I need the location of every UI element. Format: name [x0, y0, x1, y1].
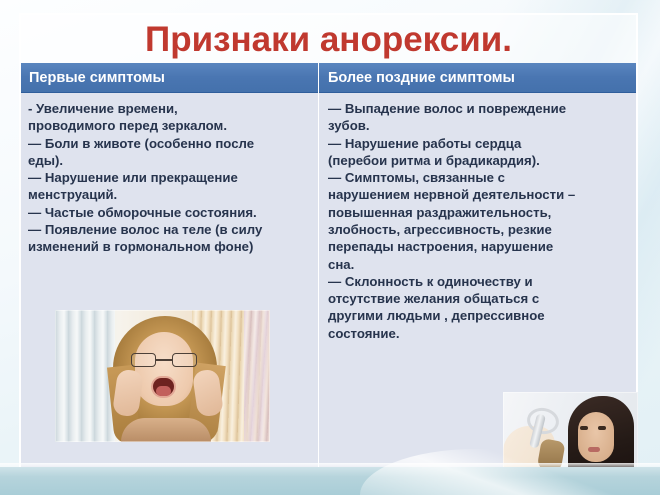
- list-item: нарушением нервной деятельности –: [328, 186, 624, 203]
- lens-left: [131, 353, 156, 367]
- column-header-late-symptoms: Более поздние симптомы: [319, 63, 636, 93]
- list-item: другими людьми , депрессивное: [328, 307, 624, 324]
- list-item: — Склонность к одиночеству и: [328, 273, 624, 290]
- list-item: повышенная раздражительность,: [328, 204, 624, 221]
- list-item: отсутствие желания общаться с: [328, 290, 624, 307]
- list-item: - Увеличение времени,: [28, 100, 310, 117]
- eye-right: [598, 426, 606, 430]
- list-item: — Боли в животе (особенно после: [28, 135, 310, 152]
- photo-screaming-woman-with-glasses: [55, 310, 270, 442]
- eye-left: [580, 426, 588, 430]
- list-item: состояние.: [328, 325, 624, 342]
- list-item: (перебои ритма и брадикардия).: [328, 152, 624, 169]
- list-item: менструаций.: [28, 186, 310, 203]
- lens-right: [172, 353, 197, 367]
- list-item: перепады настроения, нарушение: [328, 238, 624, 255]
- tongue: [156, 386, 171, 396]
- shoulders: [121, 418, 211, 442]
- list-item: зубов.: [328, 117, 624, 134]
- list-item: — Нарушение работы сердца: [328, 135, 624, 152]
- window-blinds-backdrop: [55, 310, 115, 442]
- column-header-early-symptoms: Первые симптомы: [21, 63, 318, 93]
- slide-canvas: Признаки анорексии. Первые симптомы - Ув…: [0, 0, 660, 495]
- list-item: — Выпадение волос и повреждение: [328, 100, 624, 117]
- list-item: — Симптомы, связанные с: [328, 169, 624, 186]
- list-item: сна.: [328, 256, 624, 273]
- list-item: проводимого перед зеркалом.: [28, 117, 310, 134]
- glasses-icon: [131, 353, 197, 367]
- list-item: — Появление волос на теле (в силу: [28, 221, 310, 238]
- list-item: еды).: [28, 152, 310, 169]
- glasses-bridge: [156, 359, 172, 361]
- violet-stripes-backdrop: [244, 310, 270, 442]
- list-item: изменений в гормональном фоне): [28, 238, 310, 255]
- list-item: — Нарушение или прекращение: [28, 169, 310, 186]
- page-title: Признаки анорексии.: [19, 14, 638, 64]
- list-item: — Частые обморочные состояния.: [28, 204, 310, 221]
- list-item: злобность, агрессивность, резкие: [328, 221, 624, 238]
